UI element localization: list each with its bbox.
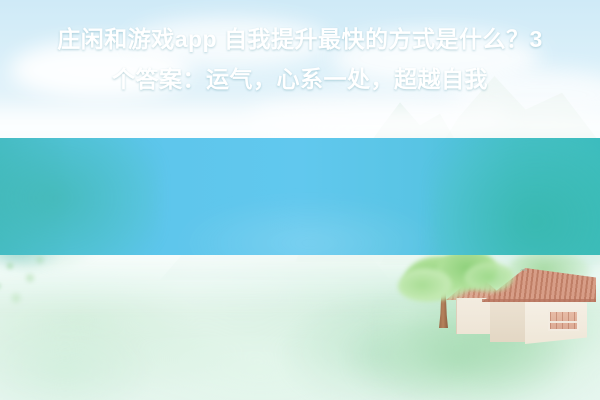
window-mullion xyxy=(550,321,577,323)
house-front-gable-wall xyxy=(490,300,526,342)
banner-texture-center xyxy=(180,198,440,255)
banner-image: 庄闲和游戏app 自我提升最快的方式是什么？3 个答案：运气，心系一处，超越自我 xyxy=(0,0,600,400)
house-illustration xyxy=(398,252,600,400)
tree-foliage-icon xyxy=(464,262,514,292)
tree-foliage-icon xyxy=(398,268,452,302)
banner-title-block: 庄闲和游戏app 自我提升最快的方式是什么？3 个答案：运气，心系一处，超越自我 xyxy=(0,0,600,117)
banner-texture-left xyxy=(0,138,160,255)
title-line-1: 庄闲和游戏app 自我提升最快的方式是什么？3 xyxy=(57,19,543,59)
bird-icon xyxy=(520,268,527,272)
roof-eave xyxy=(482,299,596,302)
foliage-cluster-icon xyxy=(0,244,72,324)
banner-texture-right xyxy=(430,138,600,255)
title-line-2: 个答案：运气，心系一处，超越自我 xyxy=(112,59,488,99)
title-banner xyxy=(0,138,600,255)
house-window-icon xyxy=(548,310,579,331)
